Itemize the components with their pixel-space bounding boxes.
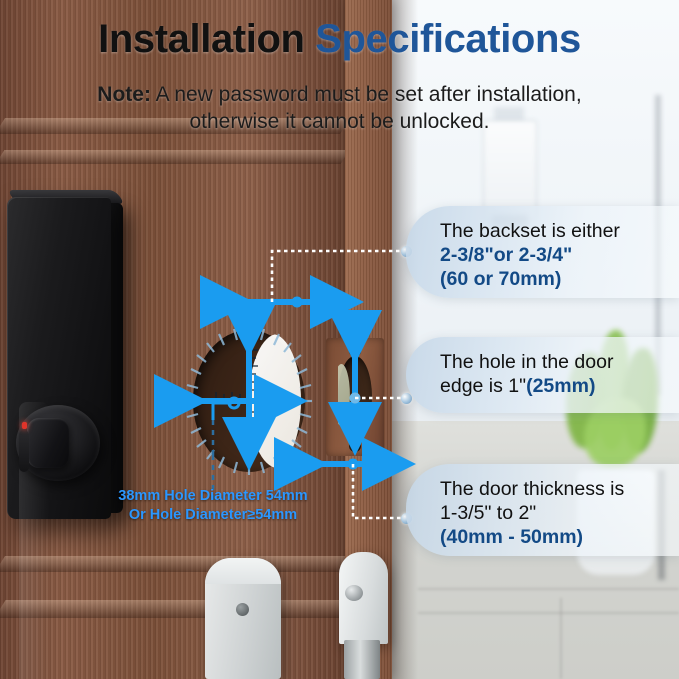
- screw-icon: [349, 345, 361, 357]
- door-panel-molding: [0, 150, 349, 164]
- callout-thickness-line2: 1-3/5" to 2": [440, 502, 669, 526]
- led-indicator-icon: [22, 422, 27, 429]
- callout-edge-line2-highlight: (25mm): [526, 375, 595, 397]
- deadbolt: [344, 640, 380, 679]
- screw-icon: [349, 440, 361, 452]
- floor-tile-line: [560, 598, 562, 679]
- door-strike-plate-top: [205, 558, 281, 584]
- door-panel-molding: [0, 600, 351, 618]
- callout-backset-line1: The backset is either: [440, 220, 669, 244]
- title-part-installation: Installation: [98, 17, 304, 61]
- callout-thickness-line3: (40mm - 50mm): [440, 526, 669, 550]
- door-panel-molding: [0, 556, 350, 572]
- hole-diameter-caption: 38mm Hole Diameter 54mm Or Hole Diameter…: [88, 487, 338, 524]
- callout-edge-line1: The hole in the door: [440, 351, 669, 375]
- callout-backset: The backset is either 2-3/8"or 2-3/4" (6…: [406, 206, 679, 298]
- floor-tile-line: [418, 588, 679, 590]
- installation-note: Note: A new password must be set after i…: [24, 82, 655, 136]
- hole-caption-line1: 38mm Hole Diameter 54mm: [88, 487, 338, 506]
- callout-backset-line3: (60 or 70mm): [440, 268, 669, 292]
- infographic-scene: Installation Specifications Note: A new …: [0, 0, 679, 679]
- title-part-specifications: Specifications: [315, 17, 581, 61]
- callout-edge-line2: edge is 1"(25mm): [440, 375, 669, 399]
- callout-door-thickness: The door thickness is 1-3/5" to 2" (40mm…: [406, 464, 679, 556]
- screw-icon: [236, 603, 249, 616]
- callout-door-edge-hole: The hole in the door edge is 1"(25mm): [406, 337, 679, 413]
- callout-thickness-line1: The door thickness is: [440, 478, 669, 502]
- note-line-1: A new password must be set after install…: [151, 83, 582, 106]
- thumbturn-knob[interactable]: [27, 418, 69, 468]
- callout-edge-line2-plain: edge is 1": [440, 375, 526, 397]
- screw-icon: [345, 585, 363, 601]
- note-line-2: otherwise it cannot be unlocked.: [189, 110, 489, 133]
- floor-tile-line: [418, 612, 679, 614]
- note-label: Note:: [97, 83, 151, 106]
- led-strip: [19, 430, 29, 472]
- callout-connector-dot: [401, 393, 412, 404]
- page-title: Installation Specifications: [0, 18, 679, 60]
- hole-caption-line2: Or Hole Diameter≥54mm: [88, 506, 338, 525]
- callout-backset-line2: 2-3/8"or 2-3/4": [440, 244, 669, 268]
